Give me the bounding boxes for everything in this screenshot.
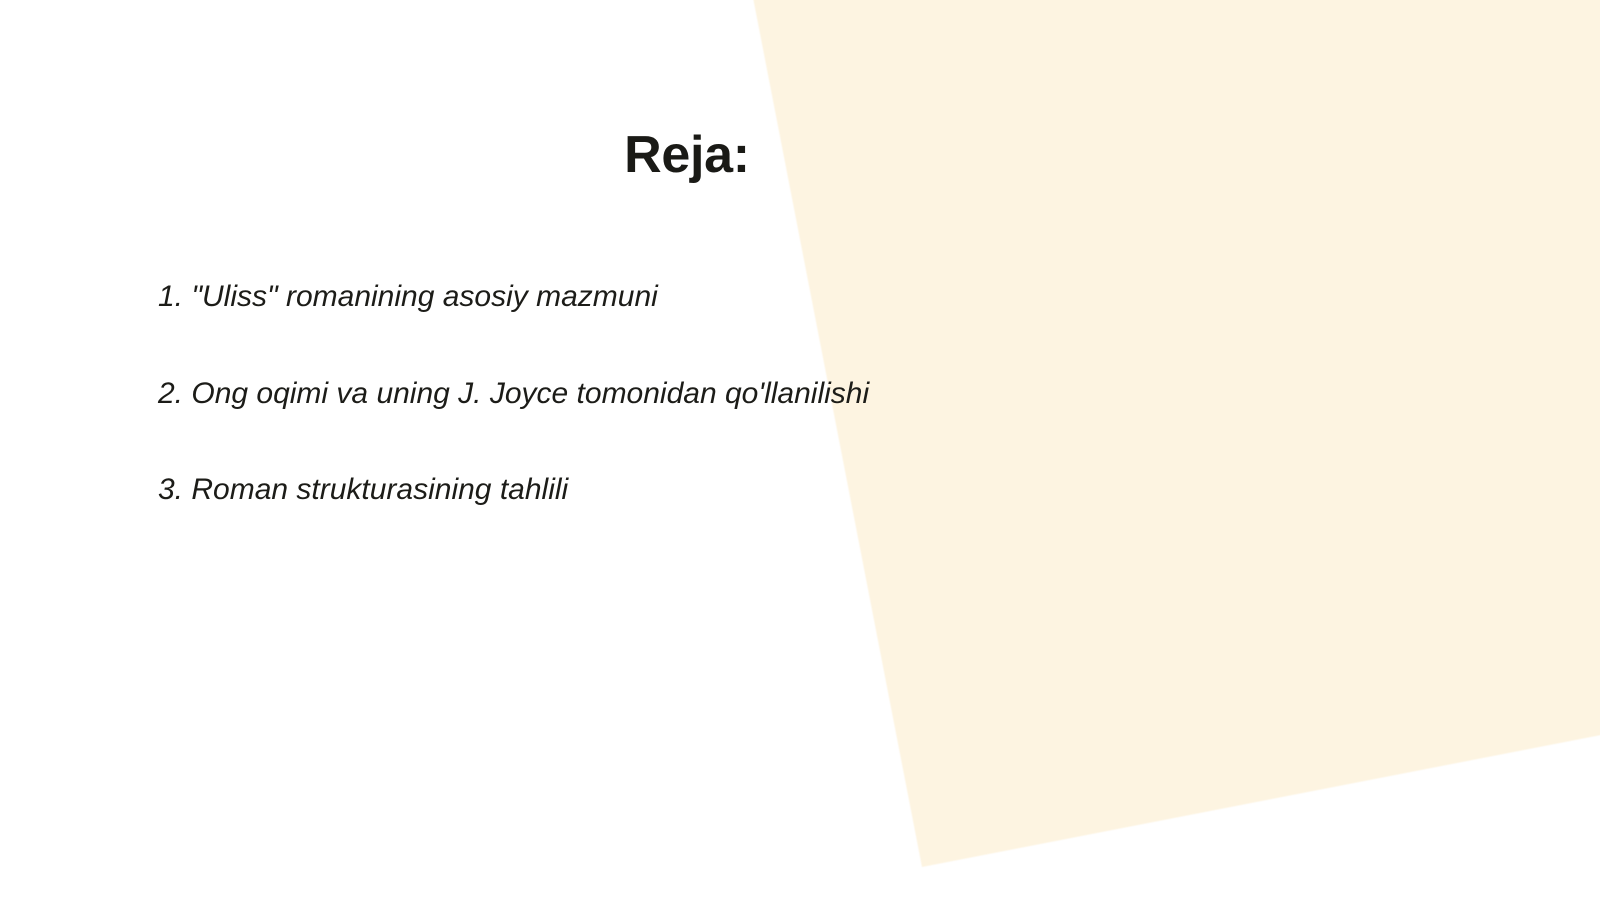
list-item: 2. Ong oqimi va uning J. Joyce tomonidan… (158, 375, 1458, 413)
list-item: 1. "Uliss" romanining asosiy mazmuni (158, 278, 1458, 316)
page-title: Reja: (0, 127, 1374, 184)
plan-list: 1. "Uliss" romanining asosiy mazmuni 2. … (158, 278, 1458, 509)
list-item: 3. Roman strukturasining tahlili (158, 471, 1458, 509)
slide-content: Reja: 1. "Uliss" romanining asosiy mazmu… (0, 0, 1600, 900)
presentation-slide: Reja: 1. "Uliss" romanining asosiy mazmu… (0, 0, 1600, 900)
